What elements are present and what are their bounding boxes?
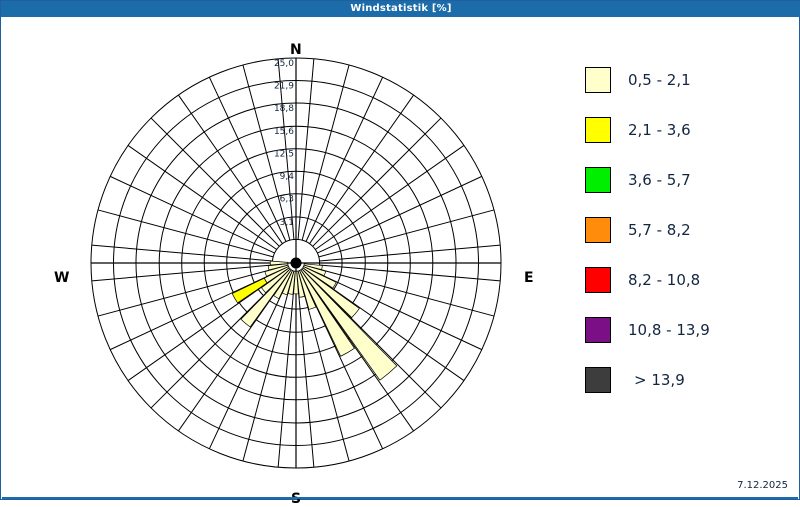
grid-spoke — [306, 77, 383, 241]
legend-item[interactable]: 3,6 - 5,7 — [585, 155, 785, 205]
window-title-bar: Windstatistik [%] — [1, 1, 800, 17]
legend-color-swatch — [585, 67, 611, 93]
compass-label-south: S — [291, 491, 301, 507]
radial-tick-label: 18,8 — [274, 104, 294, 114]
legend-item-label: 8,2 - 10,8 — [628, 271, 700, 289]
windstatistik-window: Windstatistik [%] 3,16,39,412,515,618,82… — [0, 0, 800, 500]
radial-tick-label: 21,9 — [274, 81, 294, 91]
grid-spoke — [319, 210, 494, 257]
radial-tick-label: 25,0 — [274, 59, 294, 69]
legend: 0,5 - 2,12,1 - 3,63,6 - 5,75,7 - 8,28,2 … — [585, 55, 785, 405]
legend-color-swatch — [585, 117, 611, 143]
compass-label-east: E — [524, 270, 534, 286]
wind-petal — [301, 269, 397, 380]
calm-centre-marker — [291, 258, 302, 269]
legend-item-label: 2,1 - 3,6 — [628, 121, 691, 139]
grid-spoke — [313, 118, 441, 246]
radial-tick-label: 9,4 — [280, 172, 295, 182]
legend-color-swatch — [585, 317, 611, 343]
legend-item-label: 0,5 - 2,1 — [628, 71, 691, 89]
legend-item-label: 5,7 - 8,2 — [628, 221, 691, 239]
legend-item[interactable]: 2,1 - 3,6 — [585, 105, 785, 155]
grid-spoke — [110, 176, 274, 253]
grid-spoke — [317, 176, 481, 253]
legend-item-label: > 13,9 — [634, 371, 685, 389]
legend-color-swatch — [585, 267, 611, 293]
legend-item-label: 3,6 - 5,7 — [628, 171, 691, 189]
legend-item[interactable]: 5,7 - 8,2 — [585, 205, 785, 255]
wind-rose-chart: 3,16,39,412,515,618,821,925,0 — [2, 18, 562, 499]
grid-spoke — [313, 280, 441, 408]
compass-label-west: W — [54, 270, 69, 286]
legend-color-swatch — [585, 167, 611, 193]
radial-axis-labels: 3,16,39,412,515,618,821,925,0 — [274, 59, 294, 228]
footer-rule — [2, 497, 798, 499]
date-stamp: 7.12.2025 — [737, 480, 788, 491]
radial-tick-label: 3,1 — [280, 218, 294, 228]
legend-color-swatch — [585, 217, 611, 243]
radial-tick-label: 12,5 — [274, 150, 294, 160]
grid-spoke — [151, 118, 279, 246]
radial-tick-label: 6,3 — [280, 195, 294, 205]
grid-spoke — [151, 280, 279, 408]
wind-rose-plot-area: 3,16,39,412,515,618,821,925,0 N S W E 0,… — [2, 18, 798, 499]
legend-item-label: 10,8 - 13,9 — [628, 321, 710, 339]
grid-spoke — [302, 65, 349, 240]
grid-spoke — [98, 210, 273, 257]
compass-label-north: N — [290, 42, 302, 58]
grid-spoke — [209, 284, 286, 448]
legend-item[interactable]: > 13,9 — [585, 355, 785, 405]
legend-item[interactable]: 10,8 - 13,9 — [585, 305, 785, 355]
radial-tick-label: 15,6 — [274, 127, 294, 137]
window-title: Windstatistik [%] — [350, 1, 451, 17]
legend-item[interactable]: 8,2 - 10,8 — [585, 255, 785, 305]
legend-color-swatch — [585, 367, 611, 393]
legend-item[interactable]: 0,5 - 2,1 — [585, 55, 785, 105]
